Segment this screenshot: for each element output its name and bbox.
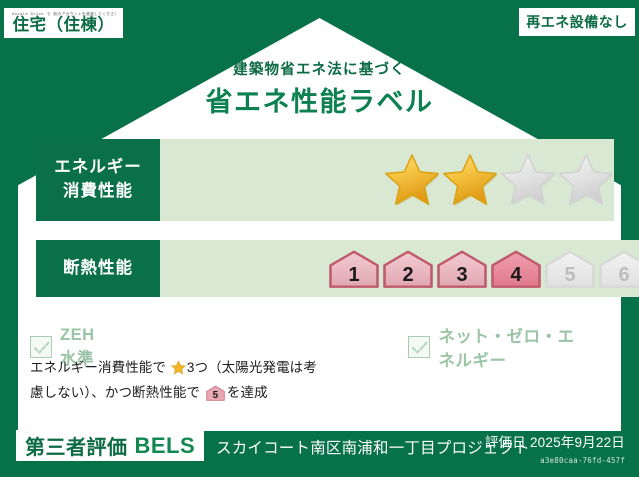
bels-jp-label: 第三者評価 (25, 431, 128, 460)
insulation-level-active: 1 (328, 249, 380, 289)
insulation-level-active: 2 (382, 249, 434, 289)
checkmark-icon (30, 336, 52, 358)
label-subtitle: 建築物省エネ法に基づく (0, 58, 639, 79)
energy-label-line1: エネルギー (54, 156, 142, 180)
evaluation-id: a3e80caa-76fd-457f (540, 456, 625, 465)
renewable-energy-label: 再エネ設備なし (526, 12, 628, 32)
star-filled-icon (442, 152, 498, 208)
insulation-badge-value: 5 (206, 391, 225, 401)
project-name: スカイコート南区南浦和一丁目プロジェクト (216, 436, 530, 458)
description-part1: エネルギー消費性能で (30, 360, 166, 375)
description-star-count: 3つ (187, 360, 208, 375)
insulation-level-number: 2 (382, 265, 434, 285)
label-title: 省エネ性能ラベル (0, 80, 639, 119)
insulation-level-number: 5 (544, 265, 596, 285)
insulation-level-inactive: 5 (544, 249, 596, 289)
star-rating (384, 152, 614, 208)
bels-certification-badge: 第三者評価 BELS (16, 430, 204, 461)
footer: 第三者評価 BELS スカイコート南区南浦和一丁目プロジェクト 評価日 2025… (0, 431, 639, 477)
star-icon (171, 360, 186, 382)
description-part3: を達成 (227, 385, 268, 400)
energy-label-root: Google Drive で 別のアカウントを使用してください。 住宅（住棟） … (0, 0, 639, 477)
star-empty-icon (500, 152, 556, 208)
criteria-item-net-zero: ネット・ゼロ・エネルギー (408, 323, 590, 371)
insulation-level-active: 4 (490, 249, 542, 289)
energy-performance-row: エネルギー 消費性能 (36, 139, 603, 221)
insulation-label-text: 断熱性能 (63, 257, 133, 281)
checkmark-icon (408, 336, 430, 358)
building-type-tag: Google Drive で 別のアカウントを使用してください。 住宅（住棟） (4, 8, 123, 38)
star-empty-icon (558, 152, 614, 208)
energy-label-line2: 消費性能 (63, 180, 133, 204)
energy-performance-label: エネルギー 消費性能 (36, 139, 160, 221)
insulation-performance-row: 断熱性能 1234567 (36, 240, 603, 297)
achievement-description: エネルギー消費性能で 3つ（太陽光発電は考慮しない）、かつ断熱性能で 5 を達成 (30, 357, 330, 404)
renewable-energy-tag: 再エネ設備なし (519, 8, 635, 36)
energy-performance-body (160, 139, 614, 221)
insulation-level-number: 1 (328, 265, 380, 285)
insulation-performance-body: 1234567 (160, 240, 639, 297)
criteria-label-net-zero: ネット・ゼロ・エネルギー (438, 323, 590, 371)
insulation-level-inactive: 6 (598, 249, 639, 289)
insulation-level-active: 3 (436, 249, 488, 289)
insulation-performance-label: 断熱性能 (36, 240, 160, 297)
evaluation-date: 評価日 2025年9月22日 (485, 431, 625, 451)
insulation-level-scale: 1234567 (328, 249, 639, 289)
insulation-level-number: 6 (598, 265, 639, 285)
star-filled-icon (384, 152, 440, 208)
insulation-level-number: 4 (490, 265, 542, 285)
insulation-level-number: 3 (436, 265, 488, 285)
micro-metadata-text: Google Drive で 別のアカウントを使用してください。 (12, 10, 116, 18)
bels-en-label: BELS (135, 433, 196, 459)
insulation-badge-icon: 5 (206, 385, 225, 401)
